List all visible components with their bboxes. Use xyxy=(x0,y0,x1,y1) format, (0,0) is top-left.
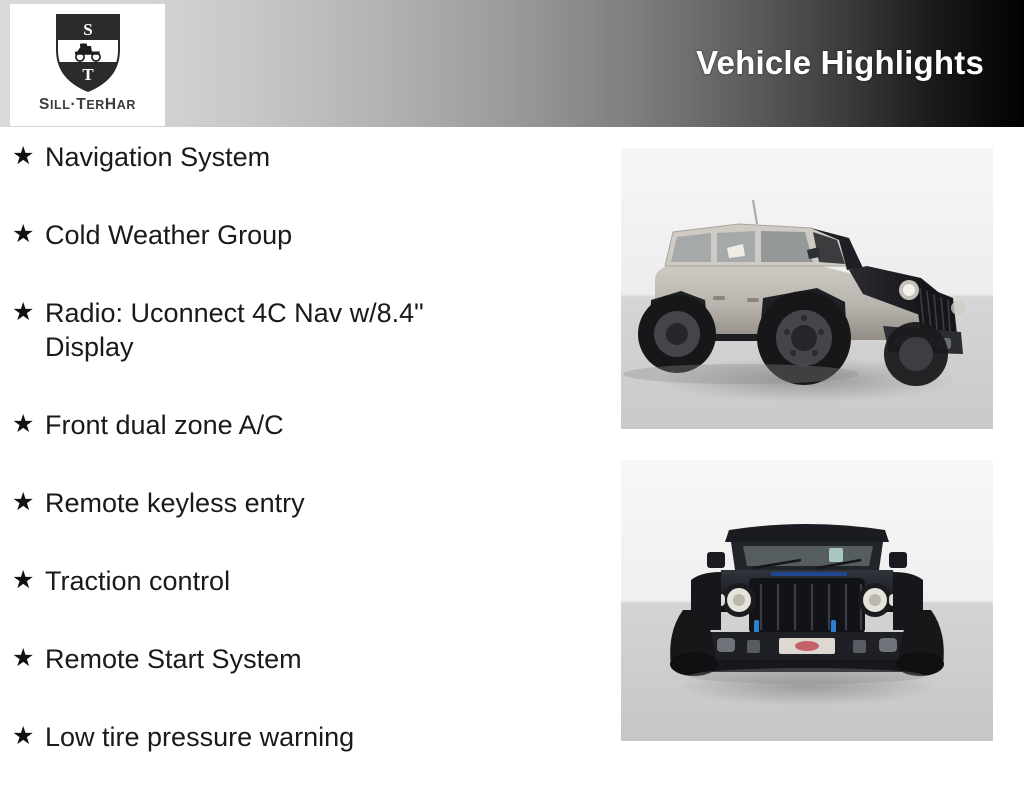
slide-root: S T SILL·TERHAR Vehicle Highlights xyxy=(0,0,1024,768)
list-item-label: Remote keyless entry xyxy=(45,486,500,520)
list-item-label: Front dual zone A/C xyxy=(45,408,500,442)
star-icon: ★ xyxy=(12,218,45,250)
list-item-label: Low tire pressure warning xyxy=(45,720,500,754)
list-item: ★ Cold Weather Group xyxy=(0,218,600,252)
list-item-label: Navigation System xyxy=(45,140,500,174)
svg-text:T: T xyxy=(82,65,94,84)
list-item: ★ Radio: Uconnect 4C Nav w/8.4" Display xyxy=(0,296,600,364)
list-item: ★ Low tire pressure warning xyxy=(0,720,600,754)
star-icon: ★ xyxy=(12,720,45,752)
svg-text:S: S xyxy=(83,20,92,39)
star-icon: ★ xyxy=(12,642,45,674)
list-item-label: Radio: Uconnect 4C Nav w/8.4" Display xyxy=(45,296,500,364)
dealer-logo-wordmark: SILL·TERHAR xyxy=(39,96,136,114)
star-icon: ★ xyxy=(12,486,45,518)
star-icon: ★ xyxy=(12,408,45,440)
list-item: ★ Traction control xyxy=(0,564,600,598)
list-item: ★ Remote keyless entry xyxy=(0,486,600,520)
star-icon: ★ xyxy=(12,564,45,596)
vehicle-photo-front xyxy=(621,460,993,741)
slide-header: S T SILL·TERHAR Vehicle Highlights xyxy=(0,0,1024,127)
list-item-label: Traction control xyxy=(45,564,500,598)
list-item: ★ Remote Start System xyxy=(0,642,600,676)
page-title: Vehicle Highlights xyxy=(696,44,984,82)
list-item-label: Remote Start System xyxy=(45,642,500,676)
list-item: ★ Navigation System xyxy=(0,140,600,174)
star-icon: ★ xyxy=(12,140,45,172)
list-item-label: Cold Weather Group xyxy=(45,218,500,252)
shield-crest-icon: S T xyxy=(53,10,123,94)
vehicle-photo-front-three-quarter xyxy=(621,148,993,429)
vehicle-highlights-list: ★ Navigation System ★ Cold Weather Group… xyxy=(0,140,600,798)
star-icon: ★ xyxy=(12,296,45,328)
list-item: ★ Front dual zone A/C xyxy=(0,408,600,442)
dealer-logo: S T SILL·TERHAR xyxy=(10,4,165,126)
